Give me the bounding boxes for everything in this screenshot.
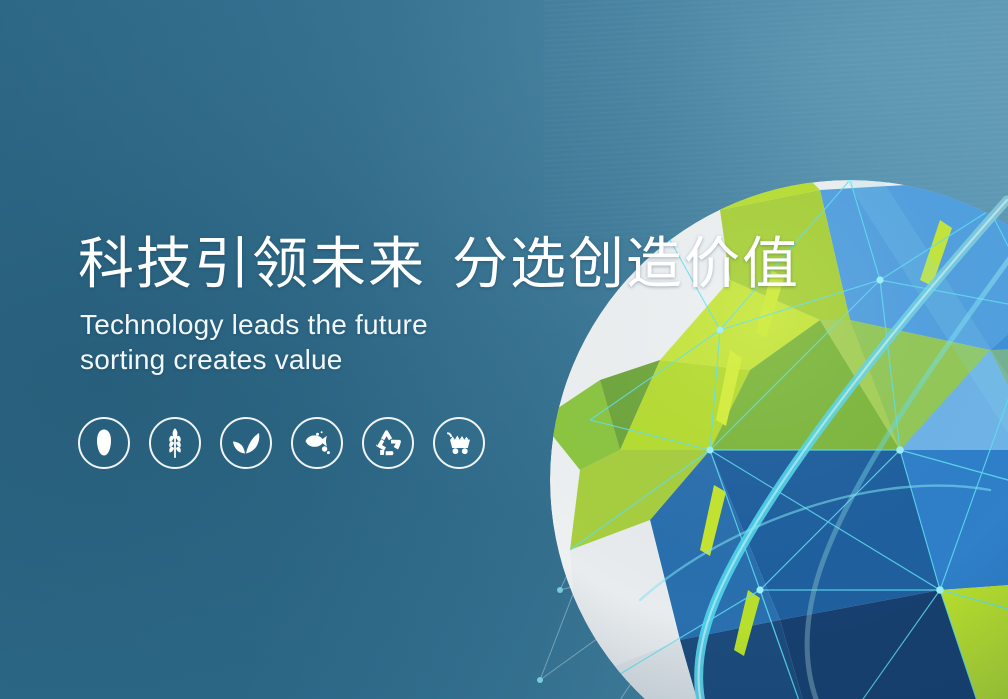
hero-copy: 科技引领未来分选创造价值 Technology leads the future… xyxy=(78,232,778,377)
subtitle-line-1: Technology leads the future xyxy=(80,307,778,342)
subtitle-line-2: sorting creates value xyxy=(80,342,778,377)
page-title: 科技引领未来分选创造价值 xyxy=(78,232,778,297)
rice-grain-icon[interactable] xyxy=(78,417,130,469)
subtitle: Technology leads the future sorting crea… xyxy=(80,307,778,378)
tea-leaf-icon[interactable] xyxy=(220,417,272,469)
industry-icon-row xyxy=(78,417,485,469)
ore-cart-icon[interactable] xyxy=(433,417,485,469)
wheat-ear-icon[interactable] xyxy=(149,417,201,469)
headline-cn-part1: 科技引领未来 xyxy=(78,232,426,295)
fish-icon[interactable] xyxy=(291,417,343,469)
recycle-icon[interactable] xyxy=(362,417,414,469)
headline-cn-part2: 分选创造价值 xyxy=(452,232,800,295)
hero-banner: 科技引领未来分选创造价值 Technology leads the future… xyxy=(0,0,1008,699)
